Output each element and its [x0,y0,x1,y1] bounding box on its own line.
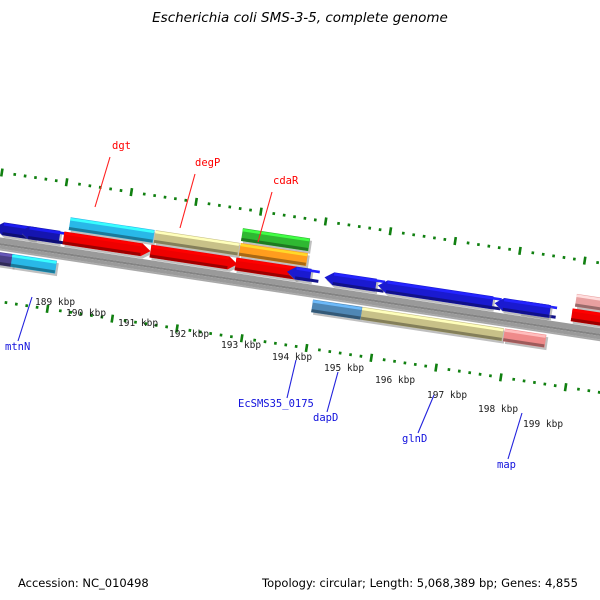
scale-tick-label: 198 kbp [478,404,518,415]
gene-label[interactable]: dgt [112,140,131,152]
gene-label[interactable]: map [497,459,516,471]
scale-tick-label: 189 kbp [35,297,75,308]
scale-tick-label: 196 kbp [375,375,415,386]
scale-tick-label: 197 kbp [427,390,467,401]
scale-tick-label: 191 kbp [118,318,158,329]
gene-label[interactable]: dapD [313,412,338,424]
gene-label[interactable]: glnD [402,433,427,445]
scale-tick-label: 193 kbp [221,340,261,351]
accession-text: Accession: NC_010498 [18,576,149,590]
genome-viewer-canvas: Escherichia coli SMS-3-5, complete genom… [0,0,600,600]
genome-map-svg: Escherichia coli SMS-3-5, complete genom… [0,0,600,600]
gene-label[interactable]: EcSMS35_0175 [238,398,314,410]
scale-tick-label: 190 kbp [66,308,106,319]
page-title: Escherichia coli SMS-3-5, complete genom… [152,10,448,26]
gene-label[interactable]: degP [195,157,220,169]
scale-tick-label: 192 kbp [169,329,209,340]
genome-stats-text: Topology: circular; Length: 5,068,389 bp… [261,576,578,590]
scale-tick-label: 199 kbp [523,419,563,430]
gene-label[interactable]: cdaR [273,175,299,187]
scale-tick-label: 194 kbp [272,352,312,363]
scale-tick-label: 195 kbp [324,363,364,374]
gene-label[interactable]: mtnN [5,341,30,353]
